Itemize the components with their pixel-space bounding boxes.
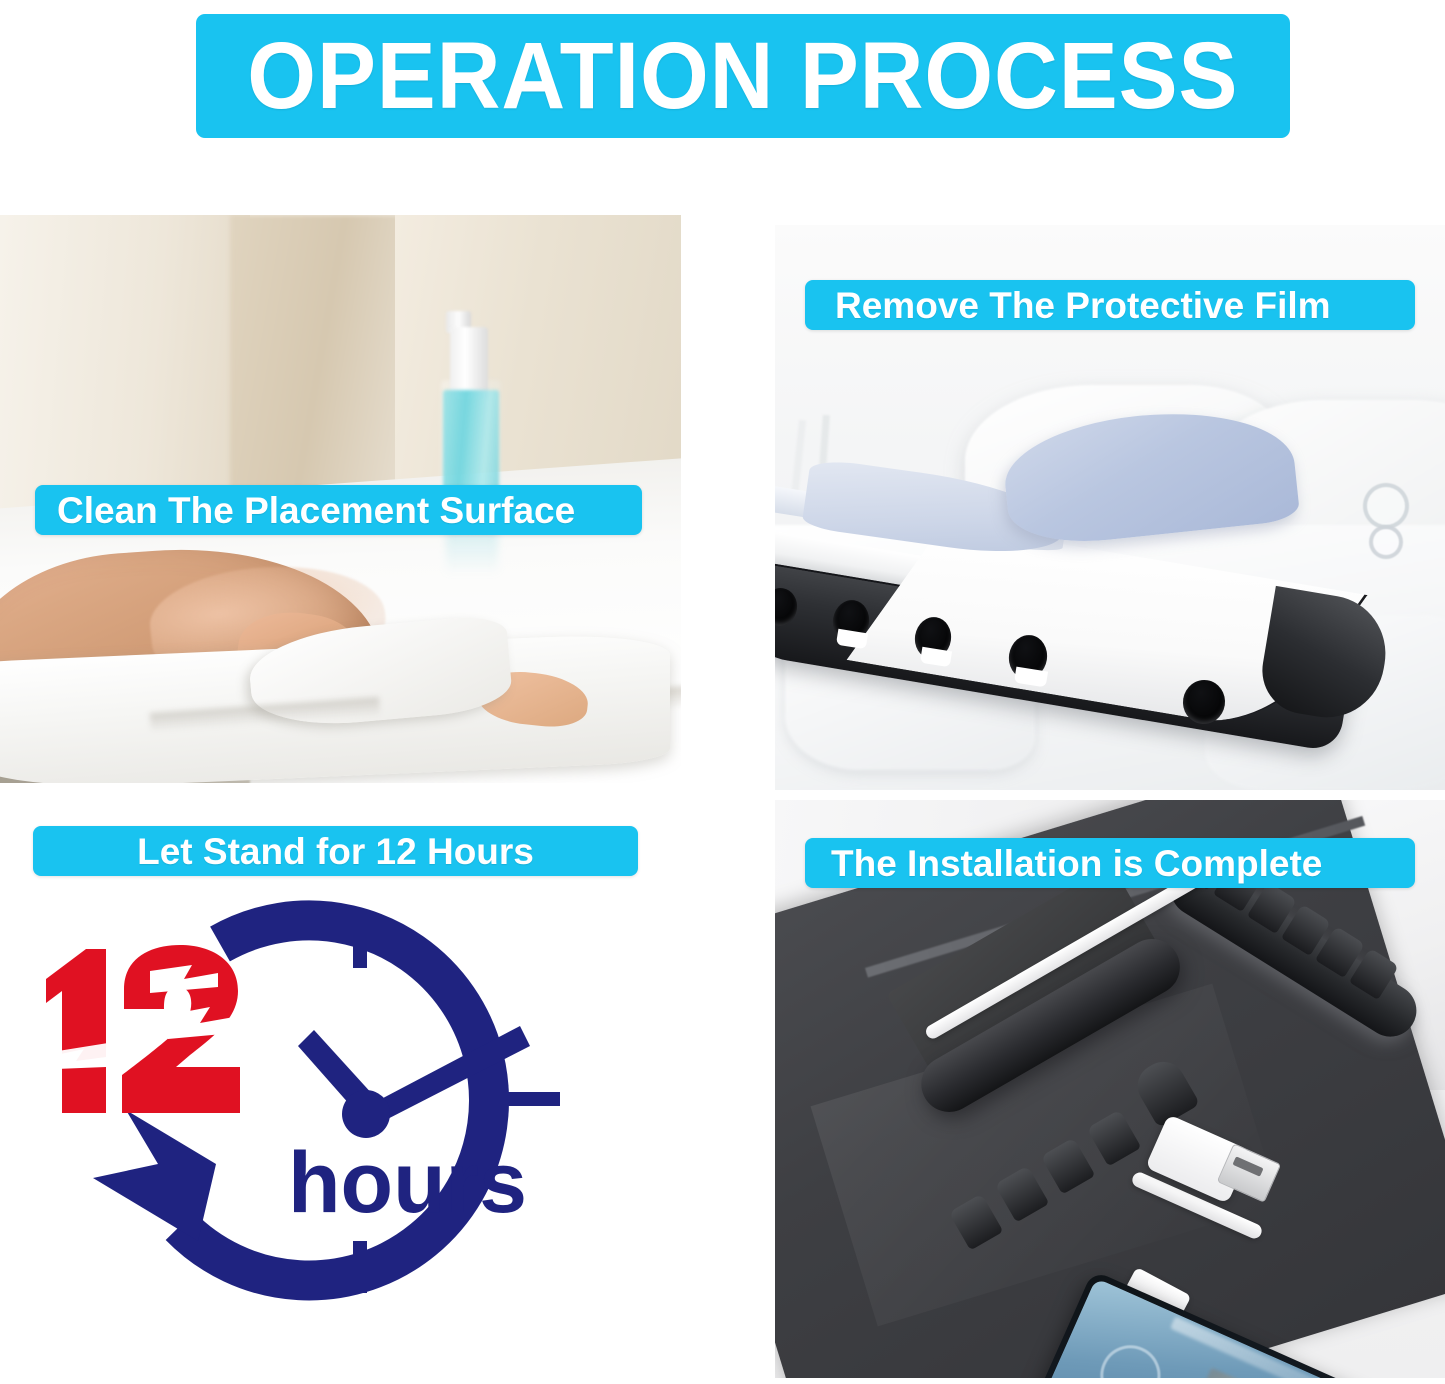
twelve-number-graphic	[28, 943, 268, 1118]
clock-unit-label: hours	[288, 1135, 527, 1231]
big-number-12-icon	[28, 943, 268, 1118]
step-1-caption: Clean The Placement Surface	[35, 485, 642, 535]
background-knob-upper	[1363, 483, 1409, 529]
step-4-caption-text: The Installation is Complete	[831, 845, 1322, 882]
tick-6	[353, 1241, 367, 1293]
step-panel-1: Clean The Placement Surface	[0, 215, 681, 783]
step-4-caption: The Installation is Complete	[805, 838, 1415, 888]
step-3-caption: Let Stand for 12 Hours	[33, 826, 638, 876]
infographic-page: OPERATION PROCESS Clean The Placement Su…	[0, 0, 1445, 1384]
page-title: OPERATION PROCESS	[247, 29, 1238, 124]
clock-center-pin	[342, 1090, 390, 1138]
page-title-banner: OPERATION PROCESS	[196, 14, 1290, 138]
tick-12	[353, 916, 367, 968]
step-panel-4: The Installation is Complete	[775, 800, 1445, 1378]
step-panel-3: Let Stand for 12 Hours	[0, 818, 681, 1378]
wall-left	[0, 215, 250, 515]
step-2-caption: Remove The Protective Film	[805, 280, 1415, 330]
spray-bottle-cap	[450, 327, 488, 399]
step-2-caption-text: Remove The Protective Film	[835, 287, 1331, 324]
tick-3	[508, 1092, 560, 1106]
step-panel-2: Remove The Protective Film	[775, 225, 1445, 790]
digit-one	[46, 949, 108, 1113]
background-knob-lower	[1369, 525, 1403, 559]
wall-middle	[230, 215, 410, 520]
step-3-caption-text: Let Stand for 12 Hours	[137, 833, 534, 870]
digit-two	[122, 945, 240, 1113]
step-1-caption-text: Clean The Placement Surface	[57, 492, 575, 529]
